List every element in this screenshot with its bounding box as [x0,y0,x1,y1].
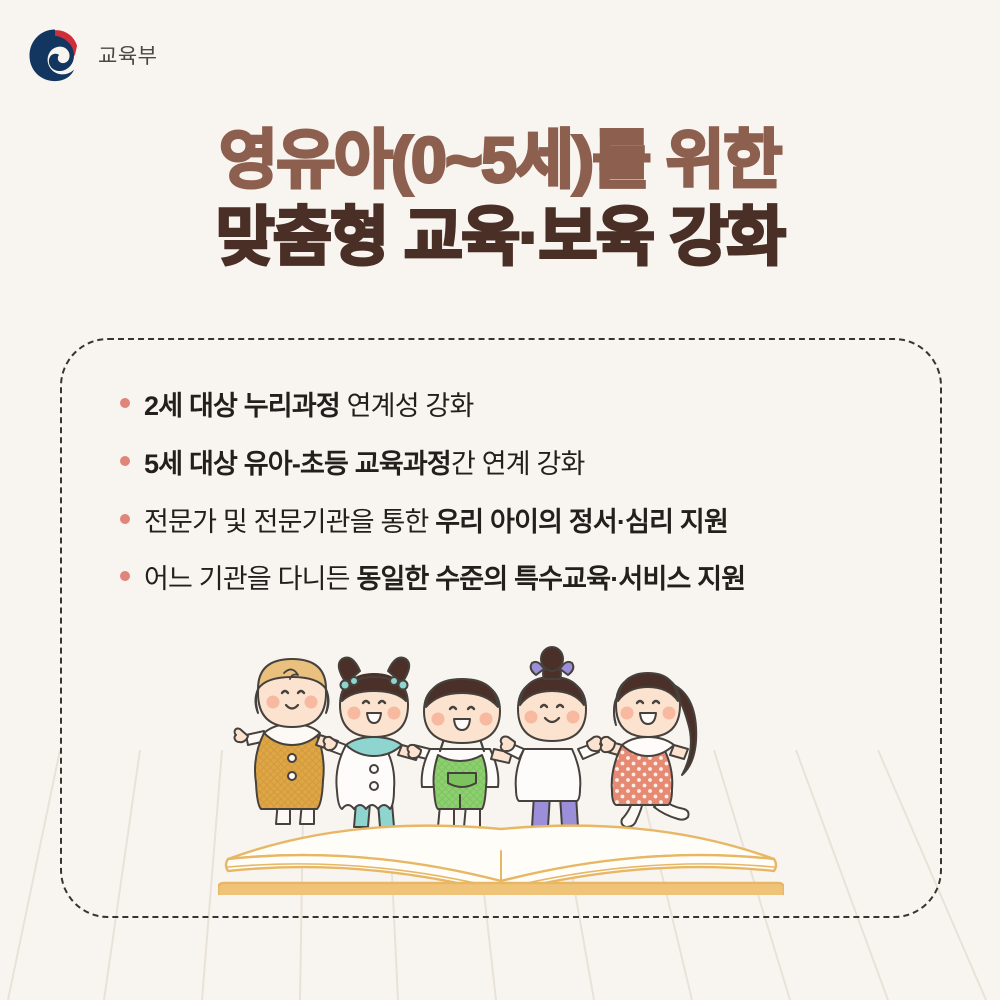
title-line-1: 영유아(0~5세)를 위한 [0,128,1000,193]
policy-item-emphasis: 5세 대상 유아-초등 교육과정 [144,449,451,479]
bullet-dot-icon [120,514,130,524]
policy-item-text: 전문가 및 전문기관을 통한 우리 아이의 정서·심리 지원 [144,506,728,540]
policy-item-regular: 연계성 강화 [340,391,474,421]
policy-list: 2세 대상 누리과정 연계성 강화 5세 대상 유아-초등 교육과정간 연계 강… [120,390,920,597]
brand-header: 교육부 [24,26,157,84]
list-item: 2세 대상 누리과정 연계성 강화 [120,390,920,424]
five-children-on-open-book-illustration [218,645,784,895]
korean-government-taegeuk-emblem [24,26,86,84]
child-2-pigtails-white-outfit [324,658,420,828]
policy-item-emphasis: 우리 아이의 정서·심리 지원 [435,507,728,537]
policy-item-regular: 전문가 및 전문기관을 통한 [144,507,435,537]
bullet-dot-icon [120,456,130,466]
title-line-2: 맞춤형 교육·보육 강화 [0,205,1000,270]
list-item: 전문가 및 전문기관을 통한 우리 아이의 정서·심리 지원 [120,506,920,540]
policy-item-emphasis: 2세 대상 누리과정 [144,391,340,421]
list-item: 어느 기관을 다니든 동일한 수준의 특수교육·서비스 지원 [120,563,920,597]
policy-item-regular: 간 연계 강화 [451,449,585,479]
policy-item-regular: 어느 기관을 다니든 [144,564,356,594]
child-5-longhair-coral-dotted-dress [601,673,696,827]
page-title: 영유아(0~5세)를 위한 맞춤형 교육·보육 강화 [0,128,1000,271]
policy-item-text: 어느 기관을 다니든 동일한 수준의 특수교육·서비스 지원 [144,563,745,597]
list-item: 5세 대상 유아-초등 교육과정간 연계 강화 [120,448,920,482]
policy-item-text: 2세 대상 누리과정 연계성 강화 [144,390,474,424]
policy-item-emphasis: 동일한 수준의 특수교육·서비스 지원 [356,564,745,594]
bullet-dot-icon [120,571,130,581]
child-4-topknot-purple-pants [501,647,601,827]
open-book-illustration [218,826,784,895]
child-1-blonde-mustard-dress [235,659,338,824]
bullet-dot-icon [120,398,130,408]
ministry-name-label: 교육부 [98,40,157,70]
child-3-boy-green-overalls [408,679,512,827]
policy-item-text: 5세 대상 유아-초등 교육과정간 연계 강화 [144,448,585,482]
